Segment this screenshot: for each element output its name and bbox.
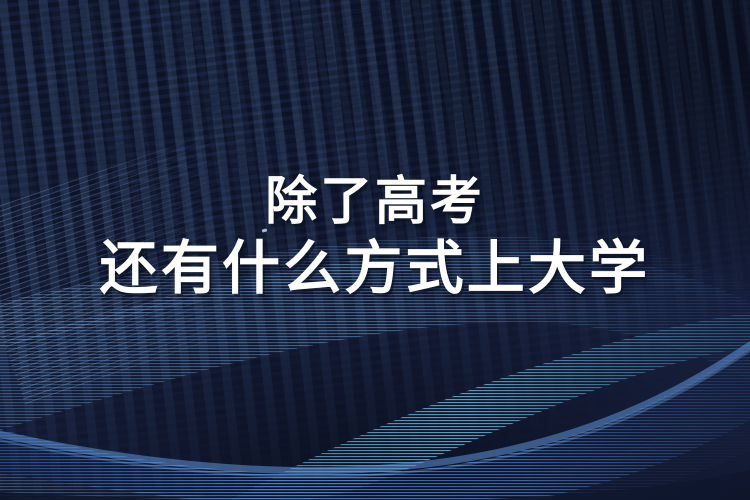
headline: 除了高考 还有什么方式上大学 <box>0 176 750 298</box>
banner: 除了高考 还有什么方式上大学 <box>0 0 750 500</box>
headline-line-1: 除了高考 <box>0 176 750 228</box>
headline-line-2: 还有什么方式上大学 <box>0 240 750 298</box>
